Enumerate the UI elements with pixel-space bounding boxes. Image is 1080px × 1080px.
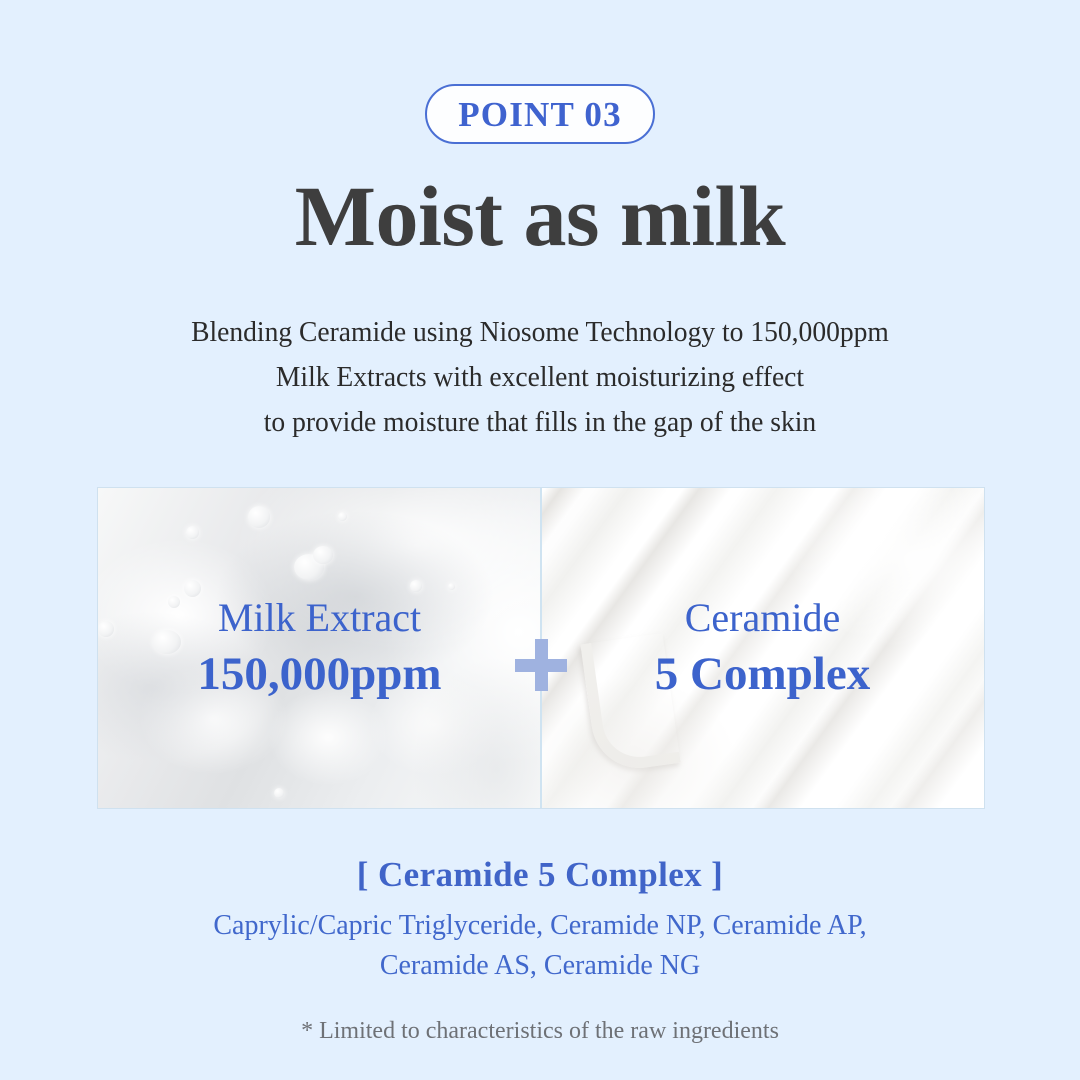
- milk-extract-name: Milk Extract: [218, 594, 421, 641]
- point-badge-label: POINT 03: [458, 97, 622, 132]
- description-line-2: Milk Extracts with excellent moisturizin…: [27, 355, 1053, 400]
- ingredient-line-2: Ceramide AS, Ceramide NG: [0, 946, 1080, 986]
- footnote: * Limited to characteristics of the raw …: [0, 1018, 1080, 1045]
- complex-title: [ Ceramide 5 Complex ]: [0, 855, 1080, 895]
- description-line-1: Blending Ceramide using Niosome Technolo…: [27, 310, 1053, 355]
- description-line-3: to provide moisture that fills in the ga…: [27, 400, 1053, 445]
- ceramide-complex-count: 5 Complex: [655, 647, 870, 702]
- ingredient-line-1: Caprylic/Capric Triglyceride, Ceramide N…: [0, 906, 1080, 946]
- ingredient-comparison-panel: Milk Extract 150,000ppm Ceramide 5 Compl…: [97, 487, 985, 809]
- point-badge: POINT 03: [425, 84, 655, 144]
- ceramide-name: Ceramide: [685, 594, 841, 641]
- milk-extract-panel: Milk Extract 150,000ppm: [98, 488, 541, 808]
- milk-extract-amount: 150,000ppm: [197, 647, 441, 702]
- description-block: Blending Ceramide using Niosome Technolo…: [0, 310, 1080, 445]
- ceramide-panel: Ceramide 5 Complex: [541, 488, 984, 808]
- milk-extract-label-group: Milk Extract 150,000ppm: [98, 488, 541, 808]
- promo-page: POINT 03 Moist as milk Blending Ceramide…: [0, 0, 1080, 1080]
- ingredient-list: Caprylic/Capric Triglyceride, Ceramide N…: [0, 906, 1080, 986]
- plus-icon: [515, 639, 567, 691]
- page-title: Moist as milk: [0, 168, 1080, 264]
- ceramide-label-group: Ceramide 5 Complex: [541, 488, 984, 808]
